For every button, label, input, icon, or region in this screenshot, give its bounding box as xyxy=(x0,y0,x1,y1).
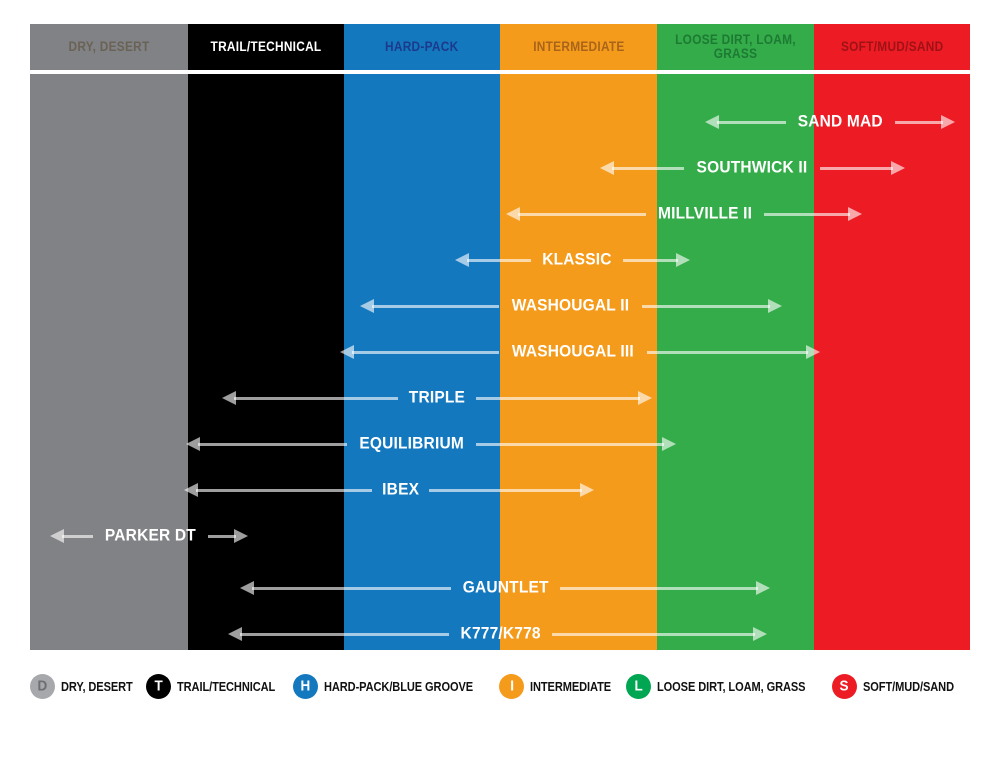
column-header-1: TRAIL/TECHNICAL xyxy=(188,24,344,70)
legend-badge-letter: I xyxy=(510,677,514,694)
column-header-label: DRY, DESERT xyxy=(68,40,149,54)
arrow-head-left-icon xyxy=(186,437,200,451)
range-row: WASHOUGAL II xyxy=(30,292,970,320)
arrow-shaft-right xyxy=(820,167,893,170)
arrow-head-right-icon xyxy=(806,345,820,359)
legend-item-i[interactable]: IINTERMEDIATE xyxy=(499,674,625,699)
arrow-head-left-icon xyxy=(506,207,520,221)
tire-name-text: WASHOUGAL II xyxy=(511,297,628,316)
legend-badge-letter: H xyxy=(300,677,310,694)
legend-badge-letter: T xyxy=(154,677,162,694)
range-row: TRIPLE xyxy=(30,384,970,412)
arrow-head-right-icon xyxy=(941,115,955,129)
column-header-3: INTERMEDIATE xyxy=(500,24,657,70)
tire-name-label: SOUTHWICK II xyxy=(693,159,811,178)
tire-name-label: PARKER DT xyxy=(102,527,199,546)
column-header-label: TRAIL/TECHNICAL xyxy=(211,40,322,54)
tire-name-label: EQUILIBRIUM xyxy=(356,435,467,454)
arrow-head-left-icon xyxy=(360,299,374,313)
legend-label-text: SOFT/MUD/SAND xyxy=(863,679,954,694)
arrow-shaft-right xyxy=(552,633,756,636)
tire-name-label: WASHOUGAL II xyxy=(508,297,633,316)
terrain-suitability-chart: DRY, DESERTTRAIL/TECHNICALHARD-PACKINTER… xyxy=(30,24,970,650)
range-row: SAND MAD xyxy=(30,108,970,136)
range-row: K777/K778 xyxy=(30,620,970,648)
arrow-shaft-right xyxy=(208,535,237,538)
legend-label-text: TRAIL/TECHNICAL xyxy=(177,679,275,694)
legend-label: DRY, DESERT xyxy=(61,679,145,694)
arrow-shaft-right xyxy=(560,587,759,590)
legend-badge-icon: T xyxy=(146,674,171,699)
arrow-head-right-icon xyxy=(768,299,782,313)
legend-label: HARD-PACK/BLUE GROOVE xyxy=(324,679,499,694)
range-row: WASHOUGAL III xyxy=(30,338,970,366)
tire-name-label: KLASSIC xyxy=(540,251,614,270)
arrow-head-left-icon xyxy=(455,253,469,267)
column-header-2: HARD-PACK xyxy=(344,24,500,70)
legend-badge-icon: H xyxy=(293,674,318,699)
tire-name-label: SAND MAD xyxy=(795,113,886,132)
arrow-head-right-icon xyxy=(848,207,862,221)
arrow-shaft-right xyxy=(764,213,850,216)
arrow-head-right-icon xyxy=(676,253,690,267)
range-row: EQUILIBRIUM xyxy=(30,430,970,458)
arrow-shaft-left xyxy=(234,397,398,400)
arrow-shaft-left xyxy=(467,259,531,262)
tire-name-text: WASHOUGAL III xyxy=(512,343,634,362)
range-row: SOUTHWICK II xyxy=(30,154,970,182)
column-header-label: HARD-PACK xyxy=(385,40,458,54)
arrow-shaft-left xyxy=(240,633,449,636)
legend-label-text: LOOSE DIRT, LOAM, GRASS xyxy=(657,679,805,694)
tire-name-label: GAUNTLET xyxy=(460,579,551,598)
legend-label: LOOSE DIRT, LOAM, GRASS xyxy=(657,679,832,694)
arrow-head-left-icon xyxy=(340,345,354,359)
arrow-head-right-icon xyxy=(756,581,770,595)
legend-label: TRAIL/TECHNICAL xyxy=(177,679,293,694)
tire-name-text: MILLVILLE II xyxy=(658,205,752,224)
legend-badge-letter: L xyxy=(634,677,642,694)
arrow-head-right-icon xyxy=(891,161,905,175)
legend: DDRY, DESERTTTRAIL/TECHNICALHHARD-PACK/B… xyxy=(30,668,970,704)
tire-name-text: SOUTHWICK II xyxy=(697,159,808,178)
arrow-head-left-icon xyxy=(600,161,614,175)
legend-item-t[interactable]: TTRAIL/TECHNICAL xyxy=(146,674,293,699)
tire-name-label: MILLVILLE II xyxy=(655,205,755,224)
arrow-shaft-right xyxy=(476,397,640,400)
column-header-band: DRY, DESERTTRAIL/TECHNICALHARD-PACKINTER… xyxy=(30,24,970,70)
tire-name-text: EQUILIBRIUM xyxy=(359,435,464,454)
tire-name-text: IBEX xyxy=(382,481,419,500)
legend-item-h[interactable]: HHARD-PACK/BLUE GROOVE xyxy=(293,674,499,699)
arrow-shaft-right xyxy=(429,489,583,492)
column-header-5: SOFT/MUD/SAND xyxy=(814,24,970,70)
legend-badge-letter: D xyxy=(38,677,48,694)
legend-label-text: DRY, DESERT xyxy=(61,679,133,694)
range-row: PARKER DT xyxy=(30,522,970,550)
arrow-shaft-left xyxy=(352,351,499,354)
tire-name-label: IBEX xyxy=(381,481,420,500)
legend-badge-icon: I xyxy=(499,674,524,699)
column-header-label: LOOSE DIRT, LOAM, GRASS xyxy=(670,33,801,61)
legend-label-text: HARD-PACK/BLUE GROOVE xyxy=(324,679,473,694)
arrow-shaft-left xyxy=(62,535,93,538)
range-row: GAUNTLET xyxy=(30,574,970,602)
arrow-shaft-left xyxy=(717,121,786,124)
legend-badge-icon: D xyxy=(30,674,55,699)
column-header-0: DRY, DESERT xyxy=(30,24,188,70)
range-row: IBEX xyxy=(30,476,970,504)
arrow-shaft-left xyxy=(518,213,646,216)
tire-name-text: KLASSIC xyxy=(542,251,611,270)
tire-range-rows: SAND MADSOUTHWICK IIMILLVILLE IIKLASSICW… xyxy=(30,74,970,650)
legend-item-s[interactable]: SSOFT/MUD/SAND xyxy=(832,674,970,699)
tire-name-text: PARKER DT xyxy=(104,527,195,546)
arrow-head-left-icon xyxy=(240,581,254,595)
arrow-head-right-icon xyxy=(234,529,248,543)
column-header-label: SOFT/MUD/SAND xyxy=(841,40,943,54)
legend-label-text: INTERMEDIATE xyxy=(530,679,611,694)
legend-badge-icon: S xyxy=(832,674,857,699)
arrow-head-left-icon xyxy=(705,115,719,129)
arrow-shaft-right xyxy=(623,259,678,262)
arrow-shaft-right xyxy=(476,443,665,446)
arrow-shaft-right xyxy=(895,121,944,124)
tire-name-label: TRIPLE xyxy=(407,389,467,408)
column-header-4: LOOSE DIRT, LOAM, GRASS xyxy=(657,24,814,70)
arrow-head-left-icon xyxy=(222,391,236,405)
legend-item-l[interactable]: LLOOSE DIRT, LOAM, GRASS xyxy=(626,674,832,699)
arrow-head-left-icon xyxy=(228,627,242,641)
arrow-head-right-icon xyxy=(753,627,767,641)
arrow-head-right-icon xyxy=(638,391,652,405)
tire-name-label: WASHOUGAL III xyxy=(508,343,638,362)
arrow-shaft-right xyxy=(642,305,771,308)
legend-badge-letter: S xyxy=(840,677,849,694)
tire-name-text: K777/K778 xyxy=(460,625,540,644)
tire-name-text: SAND MAD xyxy=(797,113,882,132)
range-row: MILLVILLE II xyxy=(30,200,970,228)
arrow-head-right-icon xyxy=(662,437,676,451)
arrow-shaft-left xyxy=(372,305,499,308)
legend-item-d[interactable]: DDRY, DESERT xyxy=(30,674,145,699)
tire-name-label: K777/K778 xyxy=(458,625,543,644)
legend-label: INTERMEDIATE xyxy=(530,679,625,694)
tire-name-text: GAUNTLET xyxy=(462,579,548,598)
arrow-shaft-left xyxy=(198,443,347,446)
arrow-shaft-left xyxy=(612,167,684,170)
column-header-label: INTERMEDIATE xyxy=(533,40,624,54)
arrow-head-right-icon xyxy=(580,483,594,497)
arrow-shaft-left xyxy=(196,489,372,492)
arrow-shaft-left xyxy=(252,587,451,590)
arrow-shaft-right xyxy=(647,351,808,354)
legend-label: SOFT/MUD/SAND xyxy=(863,679,970,694)
tire-name-text: TRIPLE xyxy=(409,389,465,408)
legend-badge-icon: L xyxy=(626,674,651,699)
arrow-head-left-icon xyxy=(184,483,198,497)
arrow-head-left-icon xyxy=(50,529,64,543)
range-row: KLASSIC xyxy=(30,246,970,274)
